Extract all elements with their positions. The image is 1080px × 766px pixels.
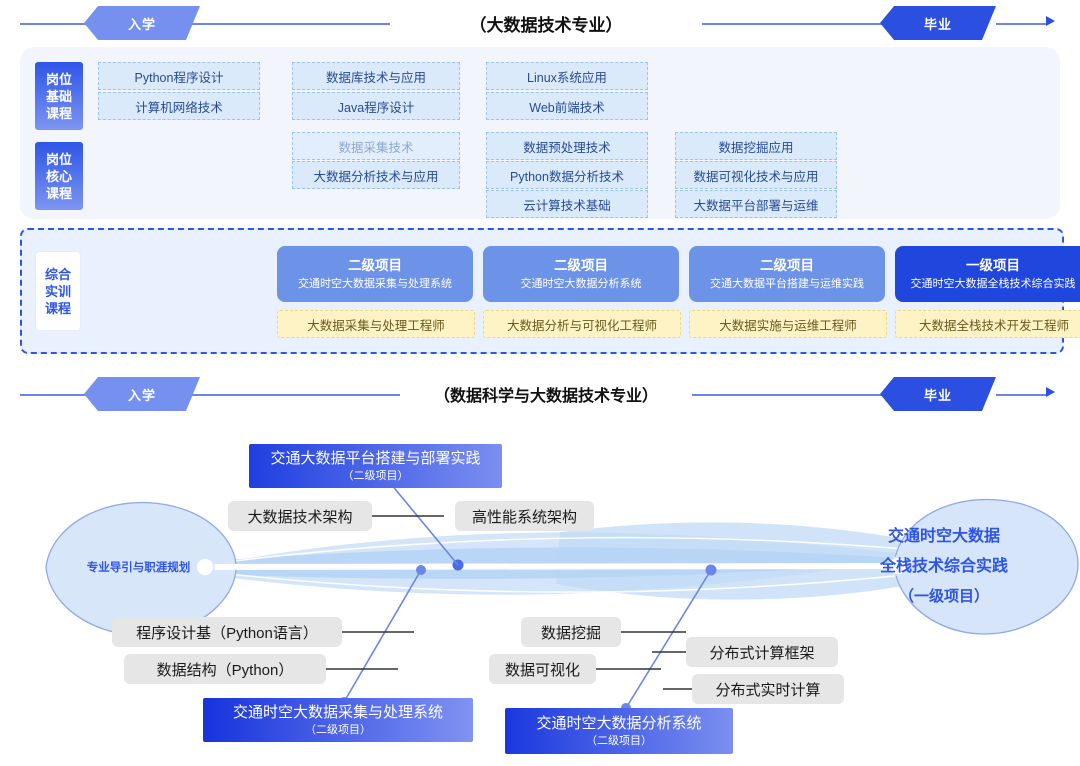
project-level: 二级项目 <box>554 257 608 275</box>
project-card[interactable]: 二级项目 交通时空大数据分析系统 <box>483 246 679 302</box>
right-leaf-line2: 全栈技术综合实践 <box>824 552 1064 582</box>
spine-line <box>206 566 898 567</box>
course-chip[interactable]: 大数据平台部署与运维 <box>675 190 837 218</box>
course-chip[interactable]: 云计算技术基础 <box>486 190 648 218</box>
course-chip[interactable]: Python数据分析技术 <box>486 161 648 189</box>
courses-panel: 岗位 基础 课程 岗位 核心 课程 Python程序设计 计算机网络技术 数据库… <box>20 47 1060 219</box>
course-chip[interactable]: 数据预处理技术 <box>486 132 648 160</box>
course-chip[interactable]: Python程序设计 <box>98 62 260 90</box>
project-box-level: （二级项目） <box>586 734 652 748</box>
timeline-end-label: 毕业 <box>924 385 952 404</box>
category-tab-training: 综合 实训 课程 <box>36 252 80 330</box>
timeline-end-label: 毕业 <box>924 14 952 33</box>
role-chip[interactable]: 大数据实施与运维工程师 <box>689 310 887 338</box>
project-card[interactable]: 二级项目 交通大数据平台搭建与运维实践 <box>689 246 885 302</box>
timeline-start-label: 入学 <box>128 385 156 404</box>
timeline-title-1: （大数据技术专业） <box>390 6 702 40</box>
project-name: 交通时空大数据分析系统 <box>521 276 642 292</box>
project-name: 交通时空大数据采集与处理系统 <box>298 276 452 292</box>
right-leaf-label: 交通时空大数据 全栈技术综合实践 （一级项目） <box>824 522 1064 612</box>
course-tag[interactable]: 分布式计算框架 <box>686 637 838 667</box>
timeline-arrow-icon <box>1046 16 1055 26</box>
project-box-title: 交通时空大数据分析系统 <box>536 714 701 734</box>
category-line: 课程 <box>46 185 72 202</box>
project-name: 交通时空大数据全栈技术综合实践 <box>911 276 1076 292</box>
timeline-line-tail <box>996 23 1046 25</box>
role-chip[interactable]: 大数据全栈技术开发工程师 <box>895 310 1080 338</box>
course-chip[interactable]: 数据挖掘应用 <box>675 132 837 160</box>
left-leaf-label: 专业导引与职涯规划 <box>56 559 221 575</box>
project-level: 二级项目 <box>348 257 402 275</box>
role-chip[interactable]: 大数据分析与可视化工程师 <box>483 310 681 338</box>
category-tab-basic: 岗位 基础 课程 <box>35 62 83 130</box>
role-chip[interactable]: 大数据采集与处理工程师 <box>277 310 475 338</box>
project-card[interactable]: 二级项目 交通时空大数据采集与处理系统 <box>277 246 473 302</box>
project-level: 一级项目 <box>966 257 1020 275</box>
project-box-title: 交通时空大数据采集与处理系统 <box>233 703 443 723</box>
timeline-line-tail <box>996 394 1046 396</box>
project-card-level1[interactable]: 一级项目 交通时空大数据全栈技术综合实践 <box>895 246 1080 302</box>
timeline-arrow-icon <box>1046 387 1055 397</box>
category-line: 岗位 <box>46 71 72 88</box>
course-chip[interactable]: 数据可视化技术与应用 <box>675 161 837 189</box>
course-chip[interactable]: 数据库技术与应用 <box>292 62 460 90</box>
course-tag[interactable]: 高性能系统架构 <box>455 501 594 531</box>
project-box-title: 交通大数据平台搭建与部署实践 <box>270 449 480 469</box>
timeline-major-1: 入学 （大数据技术专业） 毕业 <box>0 4 1080 44</box>
project-level: 二级项目 <box>760 257 814 275</box>
course-chip[interactable]: 数据采集技术 <box>292 132 460 160</box>
course-tag[interactable]: 数据可视化 <box>489 654 596 684</box>
course-tag[interactable]: 大数据技术架构 <box>228 501 372 531</box>
right-leaf-line3: （一级项目） <box>824 582 1064 612</box>
course-tag[interactable]: 程序设计基（Python语言） <box>112 617 342 647</box>
course-chip[interactable]: 大数据分析技术与应用 <box>292 161 460 189</box>
project-box-analysis[interactable]: 交通时空大数据分析系统 （二级项目） <box>505 708 733 754</box>
category-line: 课程 <box>46 105 72 122</box>
pathway-diagram: 专业导引与职涯规划 交通时空大数据 全栈技术综合实践 （一级项目） 交通大数据平… <box>0 404 1080 766</box>
project-box-platform[interactable]: 交通大数据平台搭建与部署实践 （二级项目） <box>249 444 502 488</box>
project-name: 交通大数据平台搭建与运维实践 <box>710 276 864 292</box>
course-chip[interactable]: 计算机网络技术 <box>98 92 260 120</box>
project-box-collection[interactable]: 交通时空大数据采集与处理系统 （二级项目） <box>203 698 473 742</box>
course-tag[interactable]: 数据结构（Python） <box>124 654 326 684</box>
infographic-root: 入学 （大数据技术专业） 毕业 岗位 基础 课程 岗位 核心 课程 Python… <box>0 0 1080 766</box>
timeline-title-text: （大数据技术专业） <box>470 11 623 36</box>
category-line: 综合 <box>45 266 71 283</box>
project-box-level: （二级项目） <box>305 723 371 737</box>
project-box-level: （二级项目） <box>343 469 409 483</box>
course-chip[interactable]: Linux系统应用 <box>486 62 648 90</box>
timeline-start-label: 入学 <box>128 14 156 33</box>
course-tag[interactable]: 数据挖掘 <box>521 617 621 647</box>
timeline-start-chevron-1: 入学 <box>84 6 200 40</box>
timeline-title-text: （数据科学与大数据技术专业） <box>434 382 658 406</box>
training-panel: 综合 实训 课程 二级项目 交通时空大数据采集与处理系统 大数据采集与处理工程师… <box>20 228 1064 354</box>
category-line: 岗位 <box>46 151 72 168</box>
category-line: 课程 <box>45 300 71 317</box>
category-line: 基础 <box>46 88 72 105</box>
timeline-end-chevron-1: 毕业 <box>880 6 996 40</box>
category-line: 核心 <box>46 168 72 185</box>
right-leaf-line1: 交通时空大数据 <box>824 522 1064 552</box>
course-tag[interactable]: 分布式实时计算 <box>692 674 844 704</box>
course-chip[interactable]: Web前端技术 <box>486 92 648 120</box>
course-chip[interactable]: Java程序设计 <box>292 92 460 120</box>
category-tab-core: 岗位 核心 课程 <box>35 142 83 210</box>
category-line: 实训 <box>45 283 71 300</box>
